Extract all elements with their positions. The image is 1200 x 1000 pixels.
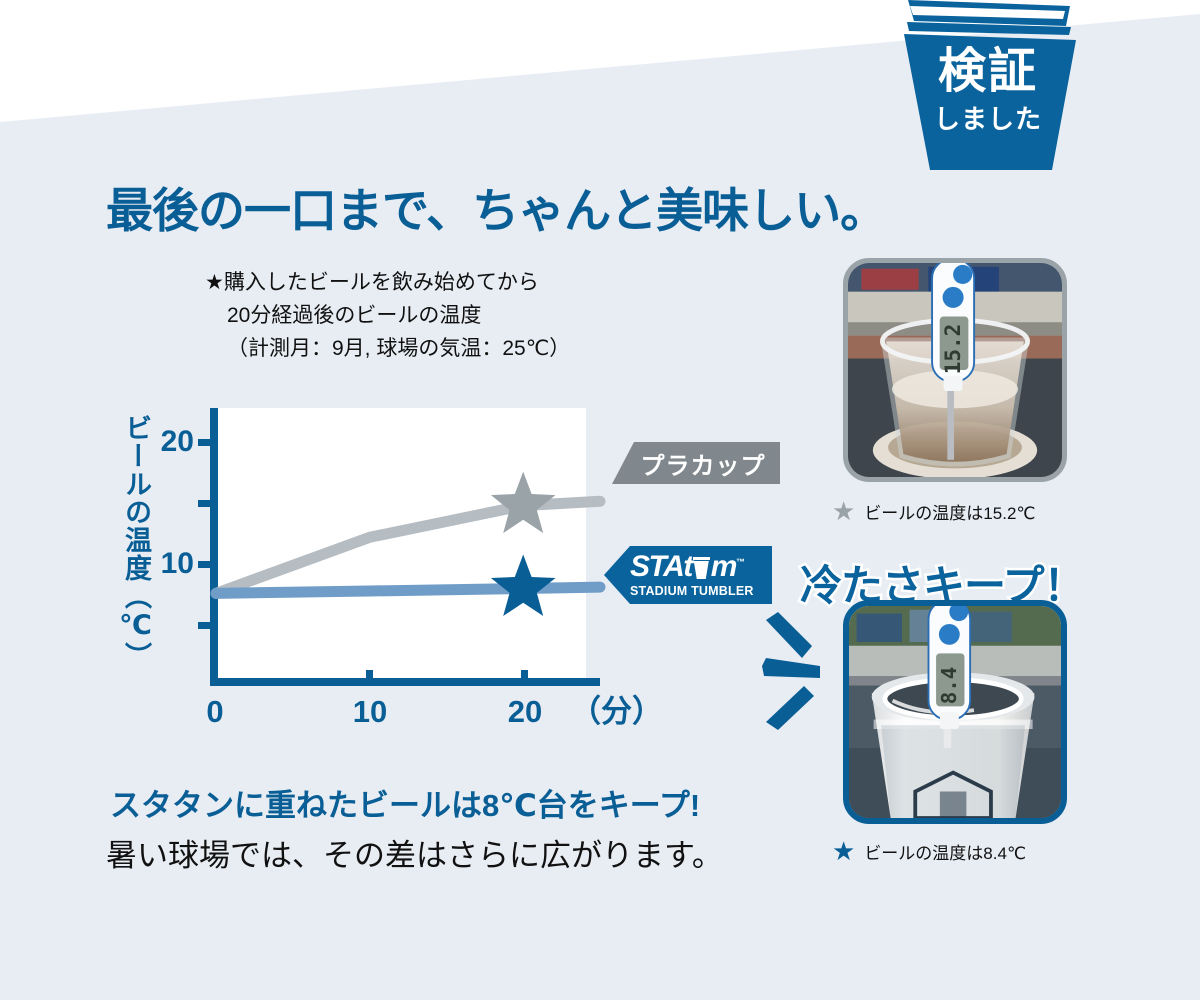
photo-statum-tumbler-caption-text: ビールの温度は8.4℃ <box>864 839 1026 864</box>
caption-line-2: 20分経過後のビールの温度 <box>205 299 570 332</box>
badge-sub-text: しました <box>898 106 1078 132</box>
summary-line-2: 暑い球場では、その差はさらに広がります。 <box>106 830 723 875</box>
statum-logo-pre: STAt <box>630 550 692 583</box>
marker-star-plastic-cup <box>491 472 556 533</box>
tumbler-cup-icon <box>693 557 710 579</box>
statum-logo-sub: STADIUM TUMBLER <box>630 585 766 598</box>
trademark-icon: ™ <box>736 557 744 567</box>
chart-caption: ★購入したビールを飲み始めてから 20分経過後のビールの温度 （計測月：9月, … <box>205 266 570 366</box>
marker-star-statum <box>491 555 556 617</box>
legend-plastic-cup: プラカップ <box>612 442 780 484</box>
photo-statum-tumbler: 8.4 <box>843 600 1067 824</box>
statum-logo: STAtm™ STADIUM TUMBLER <box>630 552 766 598</box>
verification-cup-badge: 検証 しました <box>898 0 1078 170</box>
star-gray-icon: ★ <box>832 498 855 524</box>
poster-root: 検証 しました 最後の一口まで、ちゃんと美味しい。 ★購入したビールを飲み始めて… <box>0 0 1200 1000</box>
photo-plastic-cup-caption: ★ ビールの温度は15.2℃ <box>832 498 1036 524</box>
photo-statum-tumbler-caption: ★ ビールの温度は8.4℃ <box>832 838 1026 864</box>
svg-text:8.4: 8.4 <box>937 667 961 705</box>
page-title: 最後の一口まで、ちゃんと美味しい。 <box>106 172 886 241</box>
statum-logo-wordmark: STAtm™ <box>630 552 766 582</box>
photo-statum-tumbler-image: 8.4 <box>849 606 1061 818</box>
star-blue-icon: ★ <box>832 838 855 864</box>
caption-line-1: ★購入したビールを飲み始めてから <box>205 266 570 299</box>
statum-logo-post: m <box>711 550 736 583</box>
summary-line-1: スタタンに重ねたビールは8℃台をキープ! <box>110 780 700 825</box>
burst-marks-icon <box>762 612 842 732</box>
legend-statum: STAtm™ STADIUM TUMBLER <box>604 546 772 604</box>
svg-text:15.2: 15.2 <box>940 324 965 375</box>
badge-main-text: 検証 <box>898 48 1078 96</box>
photo-plastic-cup-caption-text: ビールの温度は15.2℃ <box>864 499 1035 524</box>
photo-plastic-cup: 15.2 <box>843 258 1067 482</box>
caption-line-3: （計測月：9月, 球場の気温：25℃） <box>205 332 570 365</box>
photo-plastic-cup-image: 15.2 <box>848 263 1062 477</box>
